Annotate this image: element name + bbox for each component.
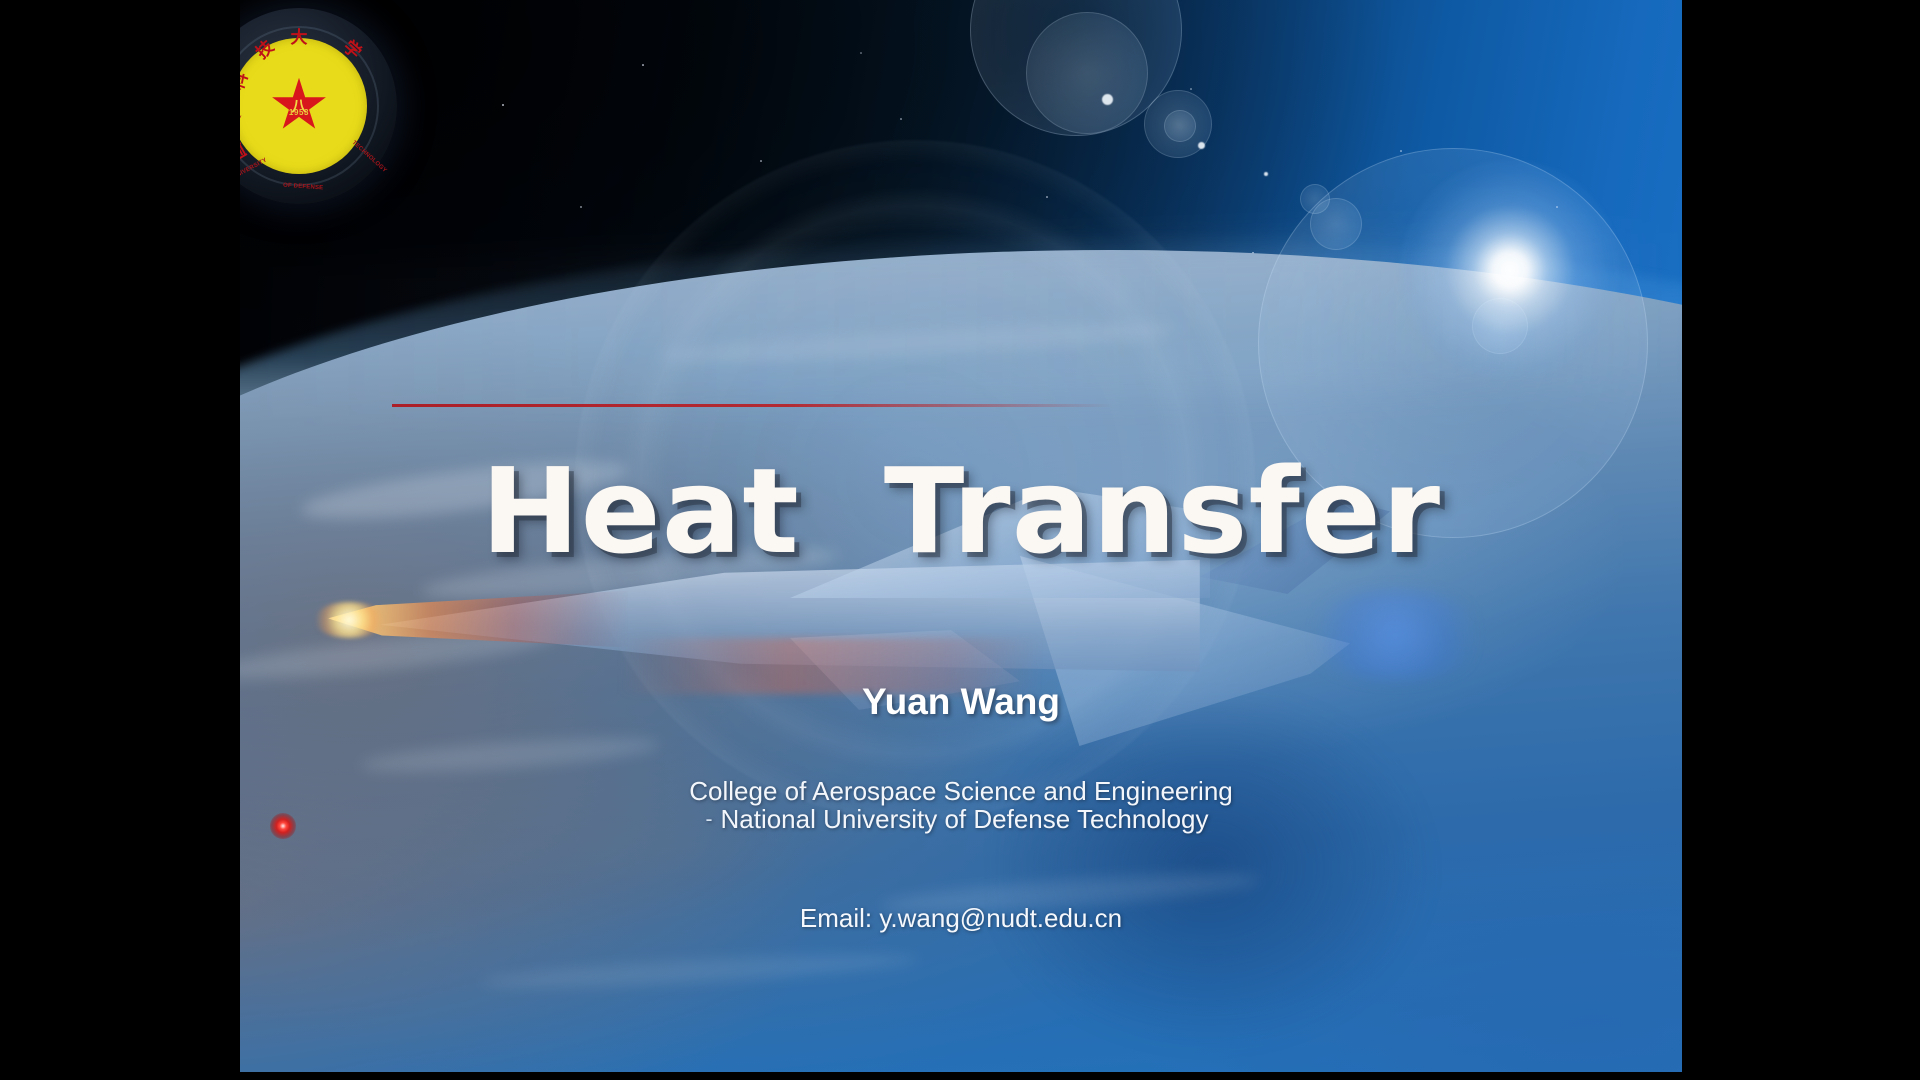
sun-glow <box>1400 160 1620 380</box>
affiliation-line-1: College of Aerospace Science and Enginee… <box>240 777 1682 805</box>
letterbox-left <box>0 0 240 1080</box>
affiliation-line-2-wrap: -National University of Defense Technolo… <box>240 805 1682 833</box>
slide-author: Yuan Wang <box>240 681 1682 723</box>
flare-orb-3 <box>1164 110 1196 142</box>
flare-orb-1 <box>1026 12 1148 134</box>
presentation-screen: 大 学 技 科 防 国 NATIONAL UNIVERSITY OF DEFEN… <box>0 0 1920 1080</box>
slide-title: Heat Transfer <box>240 452 1682 570</box>
vehicle-nose-hotspot <box>314 602 384 638</box>
slide-affiliation: College of Aerospace Science and Enginee… <box>240 777 1682 833</box>
letterbox-right <box>1682 0 1920 1080</box>
title-accent-rule <box>392 404 1112 407</box>
slide-email: Email: y.wang@nudt.edu.cn <box>240 903 1682 934</box>
letterbox-bottom <box>0 1072 1920 1080</box>
nudt-emblem-logo: 大 学 技 科 防 国 NATIONAL UNIVERSITY OF DEFEN… <box>240 8 397 204</box>
affiliation-dash: - <box>705 808 712 831</box>
vehicle-exhaust-glow <box>1300 590 1490 680</box>
emblem-blue-field: 八 1953 <box>293 100 305 112</box>
flare-dot-3 <box>1264 172 1268 176</box>
flare-dot-2 <box>1198 142 1205 149</box>
affiliation-line-2: National University of Defense Technolog… <box>720 804 1208 834</box>
flare-dot-1 <box>1102 94 1113 105</box>
emblem-year: 1953 <box>289 108 309 117</box>
laser-pointer-dot <box>270 813 296 839</box>
title-slide: 大 学 技 科 防 国 NATIONAL UNIVERSITY OF DEFEN… <box>240 0 1682 1072</box>
emblem-yellow-disc: 大 学 技 科 防 国 NATIONAL UNIVERSITY OF DEFEN… <box>240 38 367 174</box>
